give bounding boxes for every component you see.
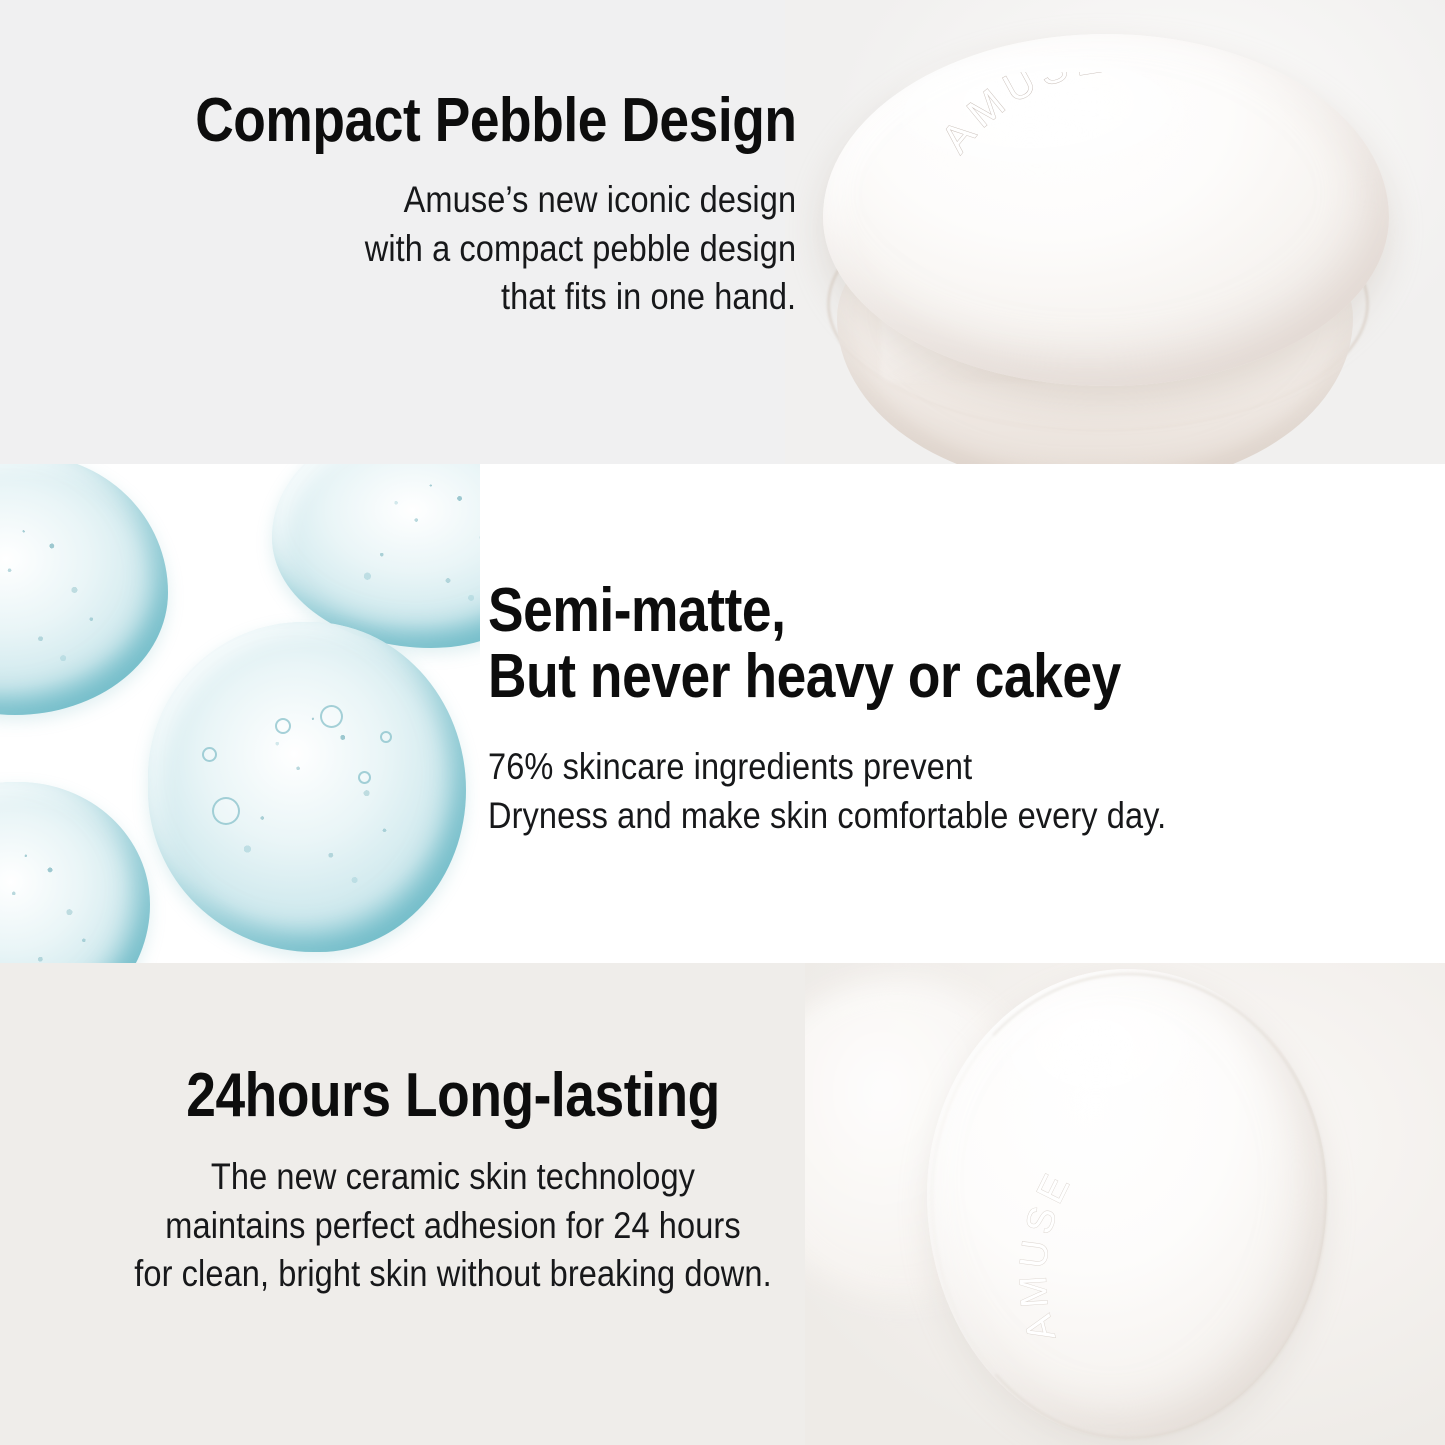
panel1-body-line-2: with a compact pebble design	[97, 225, 812, 274]
gel-droplet-top	[272, 464, 480, 648]
panel2-text-block: Semi-matte, But never heavy or cakey 76%…	[488, 578, 1408, 841]
gel-droplet-main	[148, 622, 466, 952]
panel3-text-block: 24hours Long-lasting The new ceramic ski…	[0, 1063, 906, 1299]
panel-24hours-long-lasting: AMUSE 24hours Long-lasting The new ceram…	[0, 963, 1445, 1445]
amuse-logo-text: AMUSE	[963, 1162, 1131, 1360]
panel2-gel-swatch-photo	[0, 464, 480, 963]
panel3-headline: 24hours Long-lasting	[63, 1063, 842, 1129]
panel-compact-pebble-design: AMUSE Compact Pebble Design Amuse’s new …	[0, 0, 1445, 464]
panel2-body-line-2: Dryness and make skin comfortable every …	[488, 792, 1298, 841]
gel-bubble-3	[275, 718, 291, 734]
amuse-logo-text: AMUSE	[945, 72, 1112, 161]
panel2-body: 76% skincare ingredients prevent Dryness…	[488, 743, 1408, 841]
svg-text:AMUSE: AMUSE	[945, 72, 1112, 161]
product-feature-infographic: AMUSE Compact Pebble Design Amuse’s new …	[0, 0, 1445, 1445]
gel-bubble-4	[202, 747, 217, 762]
gel-bubble-2	[212, 797, 240, 825]
panel1-headline: Compact Pebble Design	[114, 88, 812, 154]
svg-text:AMUSE: AMUSE	[963, 1162, 1131, 1360]
amuse-emboss-logo-icon: AMUSE	[945, 72, 1275, 222]
panel1-body: Amuse’s new iconic design with a compact…	[0, 176, 812, 322]
panel2-headline-line-1: Semi-matte,	[488, 578, 1279, 644]
panel2-body-line-1: 76% skincare ingredients prevent	[488, 743, 1298, 792]
gel-bubble-5	[358, 771, 371, 784]
gel-droplet-bottom-left	[0, 782, 150, 963]
gel-bubble-6	[380, 731, 392, 743]
panel1-text-block: Compact Pebble Design Amuse’s new iconic…	[0, 88, 812, 322]
gel-bubble-1	[320, 705, 343, 728]
panel1-product-photo: AMUSE	[785, 0, 1445, 464]
panel-semi-matte: Semi-matte, But never heavy or cakey 76%…	[0, 464, 1445, 963]
panel1-body-line-1: Amuse’s new iconic design	[97, 176, 812, 225]
panel3-body: The new ceramic skin technology maintain…	[0, 1153, 906, 1299]
panel2-headline-line-2: But never heavy or cakey	[488, 644, 1279, 710]
panel1-body-line-3: that fits in one hand.	[97, 273, 812, 322]
gel-droplet-top-left	[0, 464, 168, 715]
panel3-body-line-3: for clean, bright skin without breaking …	[54, 1250, 851, 1299]
panel3-body-line-2: maintains perfect adhesion for 24 hours	[54, 1202, 851, 1251]
panel3-body-line-1: The new ceramic skin technology	[54, 1153, 851, 1202]
